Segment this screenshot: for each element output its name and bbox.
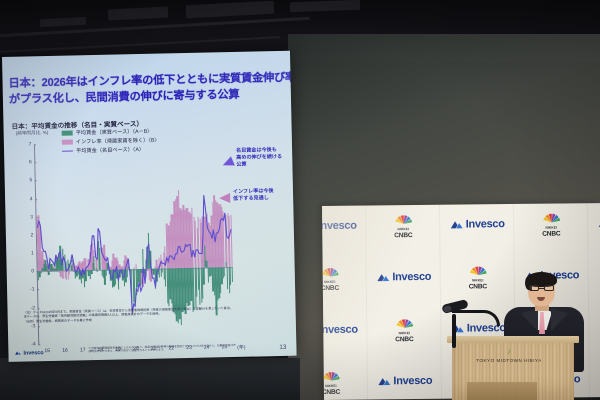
glasses-icon (529, 285, 554, 291)
nikkei-label: NIKKEI (398, 227, 409, 231)
invesco-label: Invesco (393, 375, 432, 387)
invesco-label: Invesco (322, 220, 357, 232)
peacock-icon (468, 263, 487, 277)
podium-signage: ♪ TOKYO MIDTOWN HIBIYA (465, 347, 553, 373)
glasses-lens-left (529, 285, 539, 291)
line-path (37, 195, 233, 316)
y-tick-label: -1 (30, 287, 37, 293)
invesco-logo: Invesco (322, 219, 357, 233)
cnbc-label: CNBC (469, 283, 487, 290)
cnbc-label: CNBC (394, 232, 412, 239)
y-tick-label: 2 (31, 232, 36, 238)
annotation-arrow-nominal (221, 156, 235, 170)
annotation-line: 低下する見通し (233, 195, 274, 203)
legend-label: 平均賃金（実質ベース）〈A－B〉 (76, 128, 153, 137)
y-tick-label: -4 (31, 341, 38, 347)
nikkei-label: NIKKEI (324, 279, 335, 283)
nikkei-cnbc-logo: NIKKEI CNBC (322, 264, 339, 291)
legend-item: 平均賃金（実質ベース）〈A－B〉 (62, 128, 160, 137)
y-tick-label: 5 (29, 178, 34, 184)
backdrop-logo-cell: Invesco (368, 355, 443, 400)
annotation-arrow-inflation (219, 193, 230, 203)
invesco-logo: Invesco (450, 218, 505, 232)
annotation-inflation: インフレ率は今後 低下する見通し (233, 188, 274, 203)
peacock-icon (322, 264, 339, 278)
peacock-icon (542, 210, 561, 224)
cnbc-label: CNBC (322, 388, 340, 395)
legend-swatch-real-wage (62, 130, 73, 135)
podium-venue-label: TOKYO MIDTOWN HIBIYA (476, 358, 542, 363)
y-tick-label: 1 (31, 250, 36, 256)
cnbc-label: CNBC (395, 336, 413, 343)
invesco-mark-icon (377, 375, 390, 388)
y-tick-label: 6 (29, 159, 34, 165)
backdrop-logo-cell: Invesco (440, 203, 515, 251)
ceiling-panel (290, 0, 360, 12)
backdrop-logo-cell: NIKKEI CNBC (367, 303, 442, 356)
podium-logo-mark: ♪ (507, 347, 512, 356)
peacock-icon (322, 368, 340, 382)
invesco-mark-icon (14, 350, 21, 357)
invesco-mark-icon (376, 271, 389, 284)
nikkei-label: NIKKEI (399, 331, 410, 335)
annotation-nominal-wage: 名目賃金は今後も 高めの伸びを続ける 公算 (236, 147, 282, 169)
peacock-icon (395, 316, 414, 330)
backdrop-logo-cell: Invesco (588, 203, 600, 249)
glasses-lens-right (544, 285, 554, 291)
microphone (440, 300, 514, 348)
invesco-label: Invesco (392, 271, 431, 283)
backdrop-logo-cell: NIKKEI CNBC (322, 252, 367, 305)
nikkei-cnbc-logo: NIKKEI CNBC (468, 263, 487, 290)
podium-base (467, 382, 537, 400)
backdrop-logo-cell: NIKKEI CNBC (366, 203, 441, 251)
y-tick-label: 7 (29, 141, 34, 147)
nikkei-label: NIKKEI (472, 278, 483, 282)
annotation-line: 公算 (236, 161, 282, 169)
invesco-logo: Invesco (322, 323, 358, 337)
ceiling-panel (108, 6, 168, 20)
nikkei-label: NIKKEI (325, 383, 336, 387)
backdrop-logo-cell: NIKKEI CNBC (514, 203, 589, 250)
nikkei-cnbc-logo: NIKKEI CNBC (542, 210, 561, 237)
floor (0, 358, 300, 400)
backdrop-logo-cell: Invesco (322, 304, 368, 357)
slide-invesco-logo: Invesco (14, 349, 43, 357)
y-tick-label: 4 (30, 196, 35, 202)
y-axis-unit-label: (前年同月比, %) (16, 130, 49, 137)
invesco-logo: Invesco (376, 270, 431, 284)
nikkei-cnbc-logo: NIKKEI CNBC (395, 316, 414, 343)
microphone-arm (452, 310, 500, 326)
invesco-logo: Invesco (377, 374, 432, 388)
microphone-stem (452, 314, 456, 348)
backdrop-logo-cell: Invesco (322, 203, 366, 252)
backdrop-logo-cell: Invesco (366, 251, 441, 304)
peacock-icon (394, 212, 413, 226)
cnbc-label: CNBC (322, 284, 339, 291)
invesco-label: Invesco (466, 218, 505, 230)
slide-title: 日本：2026年はインフレ率の低下とともに実質賃金伸び率 がプラス化し、民間消費… (8, 71, 287, 108)
y-tick-label: 3 (30, 214, 35, 220)
backdrop-logo-cell: NIKKEI CNBC (322, 356, 368, 400)
projection-screen: 日本：2026年はインフレ率の低下とともに実質賃金伸び率 がプラス化し、民間消費… (2, 51, 297, 362)
cnbc-label: CNBC (542, 230, 560, 237)
ceiling-panel (186, 1, 275, 19)
ceiling-panel (40, 17, 86, 27)
nikkei-cnbc-logo: NIKKEI CNBC (394, 212, 413, 239)
annotation-line: 高めの伸びを続ける (236, 154, 282, 162)
slide-page-number: 13 (279, 344, 286, 351)
invesco-label: Invesco (322, 324, 358, 336)
slide-invesco-label: Invesco (23, 350, 43, 356)
nikkei-label: NIKKEI (546, 225, 557, 229)
nikkei-cnbc-logo: NIKKEI CNBC (322, 368, 340, 395)
y-tick-label: -3 (31, 323, 38, 329)
invesco-mark-icon (450, 218, 463, 231)
presentation-scene: 日本：2026年はインフレ率の低下とともに実質賃金伸び率 がプラス化し、民間消費… (0, 0, 600, 400)
